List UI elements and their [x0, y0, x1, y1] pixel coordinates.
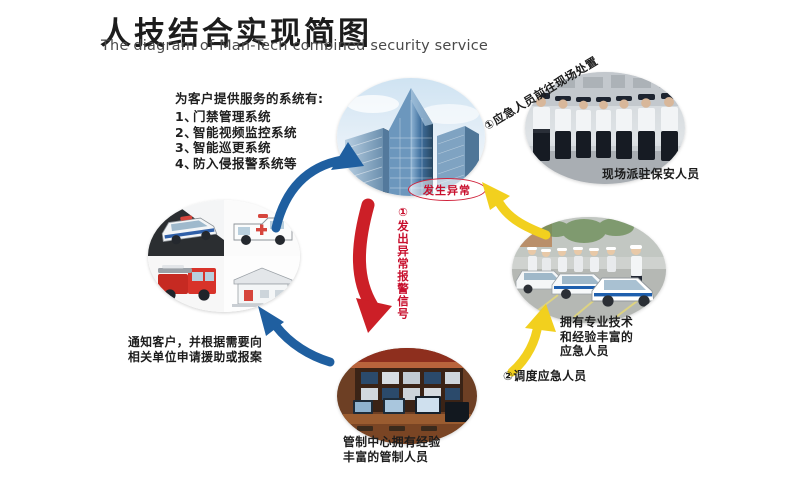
photo-patrol-cars — [512, 217, 666, 323]
arrow-red-alarm-signal — [356, 205, 392, 333]
caption-control-center-line1: 管制中心拥有经验 — [343, 435, 441, 450]
systems-list-item-2-number: 2、 — [175, 125, 193, 141]
systems-list-item-1-label: 门禁管理系统 — [193, 109, 271, 124]
systems-list-item-1-number: 1、 — [175, 109, 193, 125]
label-alarm-signal: ①发出异常报警信号 — [396, 205, 409, 320]
systems-list-item-3-label: 智能巡更系统 — [193, 140, 271, 155]
caption-control-center-line2: 丰富的管制人员 — [343, 450, 441, 465]
arrow-yellow-to-site — [482, 182, 546, 235]
systems-list-item-4-number: 4、 — [175, 156, 193, 172]
arrow-blue-to-vehicles — [258, 306, 330, 362]
page-subtitle: The diagram of Man-Tech combined securit… — [101, 38, 488, 54]
systems-list-item-2-label: 智能视频监控系统 — [193, 125, 297, 140]
caption-emergency-staff: 拥有专业技术 和经验丰富的 应急人员 — [560, 315, 633, 359]
systems-list-heading: 为客户提供服务的系统有: — [175, 88, 355, 107]
photo-emergency-vehicles — [148, 200, 300, 312]
systems-list-item-2: 2、智能视频监控系统 — [175, 125, 355, 141]
diagram-canvas: 人技结合实现简图 The diagram of Man-Tech combine… — [0, 0, 802, 477]
systems-list-item-4: 4、防入侵报警系统等 — [175, 156, 355, 172]
status-badge-abnormal: 发生异常 — [408, 178, 486, 201]
caption-security-guards: 现场派驻保安人员 — [602, 167, 700, 182]
systems-list-item-3-number: 3、 — [175, 140, 193, 156]
caption-emergency-staff-line3: 应急人员 — [560, 344, 633, 359]
caption-control-center: 管制中心拥有经验 丰富的管制人员 — [343, 435, 441, 464]
label-schedule-staff: ②调度应急人员 — [503, 367, 587, 384]
systems-list-item-3: 3、智能巡更系统 — [175, 140, 355, 156]
systems-list-item-1: 1、门禁管理系统 — [175, 109, 355, 125]
caption-emergency-staff-line2: 和经验丰富的 — [560, 330, 633, 345]
systems-list: 为客户提供服务的系统有: 1、门禁管理系统 2、智能视频监控系统 3、智能巡更系… — [175, 88, 355, 171]
caption-notify-client-line2: 相关单位申请援助或报案 — [128, 350, 262, 365]
caption-emergency-staff-line1: 拥有专业技术 — [560, 315, 633, 330]
caption-notify-client: 通知客户，并根据需要向 相关单位申请援助或报案 — [128, 335, 262, 364]
systems-list-item-4-label: 防入侵报警系统等 — [193, 156, 297, 171]
photo-control-center — [337, 348, 477, 444]
caption-notify-client-line1: 通知客户，并根据需要向 — [128, 335, 262, 350]
